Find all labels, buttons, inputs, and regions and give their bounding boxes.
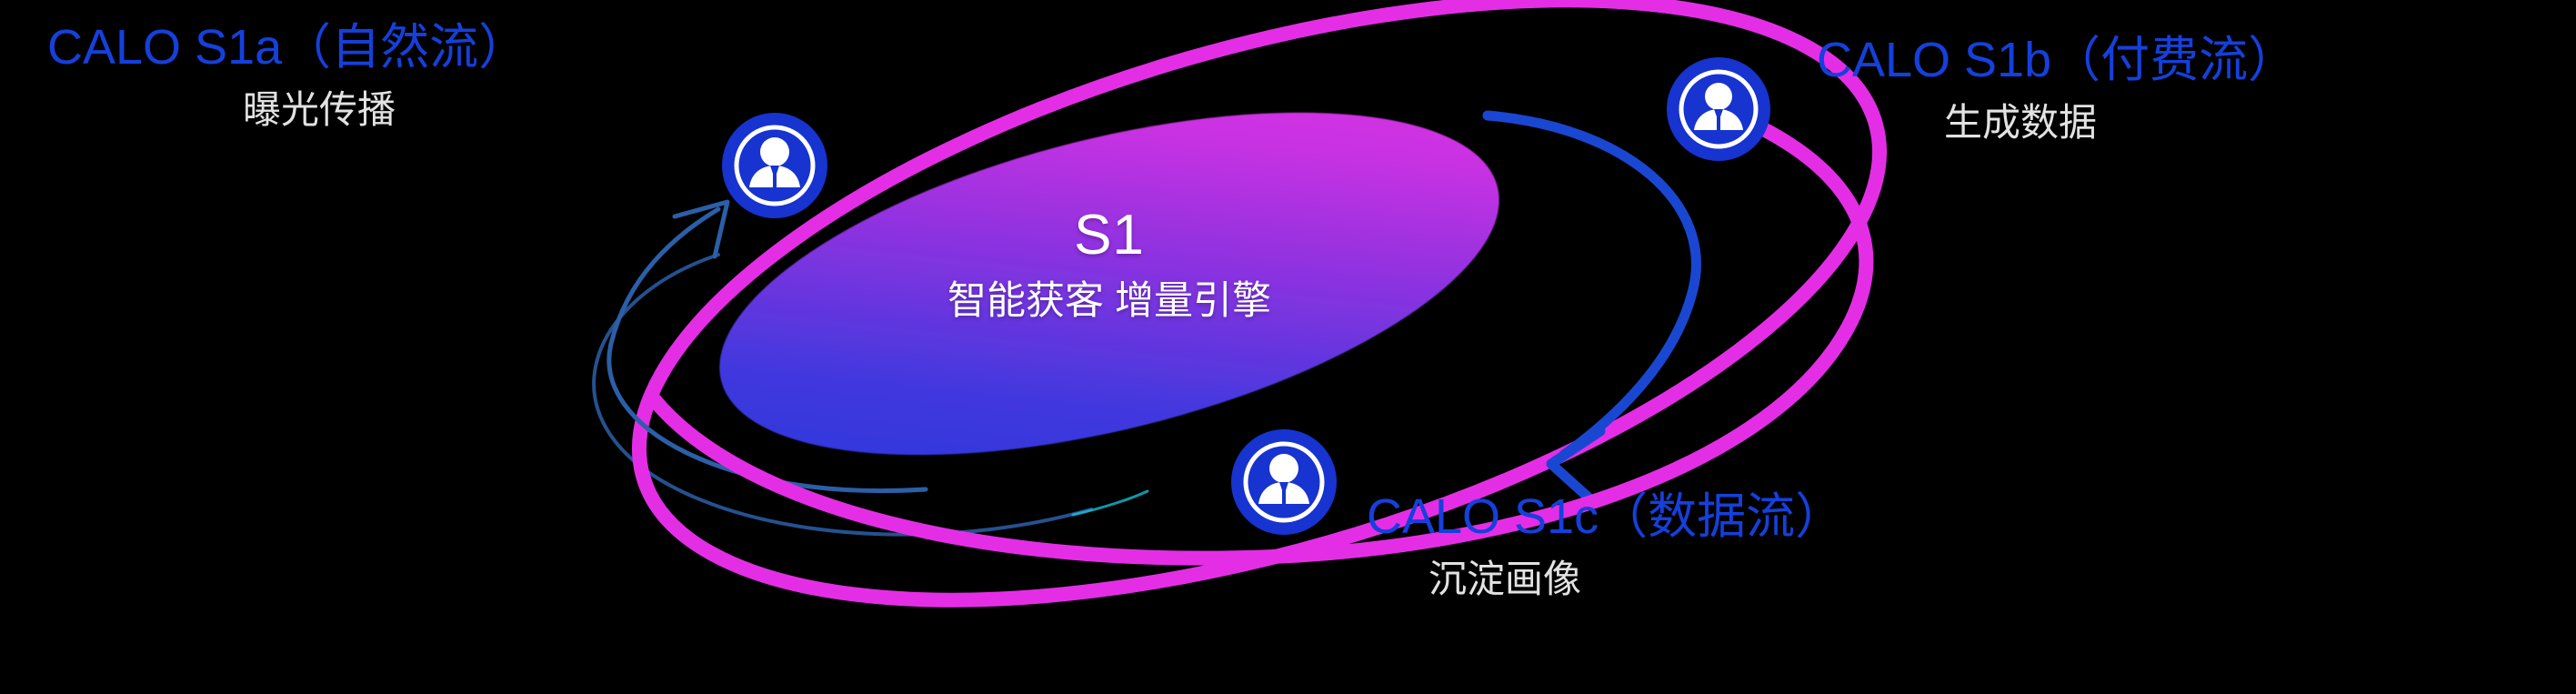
- core-title: S1: [700, 207, 1519, 264]
- label-group-s1c: CALO S1c（数据流） 沉淀画像: [1367, 489, 1844, 603]
- curved-arrow-down-left: [1488, 116, 1696, 498]
- label-subtitle-s1a: 曝光传播: [243, 87, 527, 133]
- node-s1b[interactable]: [1667, 57, 1770, 161]
- label-subtitle-s1b: 生成数据: [1944, 100, 2297, 146]
- core-text-block: S1 智能获客 增量引擎: [700, 0, 1519, 455]
- label-group-s1a: CALO S1a（自然流） 曝光传播: [47, 20, 527, 134]
- label-title-s1c: CALO S1c（数据流）: [1367, 489, 1844, 544]
- label-group-s1b: CALO S1b（付费流） 生成数据: [1817, 33, 2297, 146]
- label-title-s1b: CALO S1b（付费流）: [1817, 33, 2297, 87]
- label-title-s1a: CALO S1a（自然流）: [47, 20, 527, 75]
- core-subtitle: 智能获客 增量引擎: [700, 282, 1519, 321]
- diagram-canvas: S1 智能获客 增量引擎 CALO S1a（自然流） 曝光传播 CALO S1b…: [0, 0, 2576, 694]
- label-subtitle-s1c: 沉淀画像: [1428, 557, 1844, 602]
